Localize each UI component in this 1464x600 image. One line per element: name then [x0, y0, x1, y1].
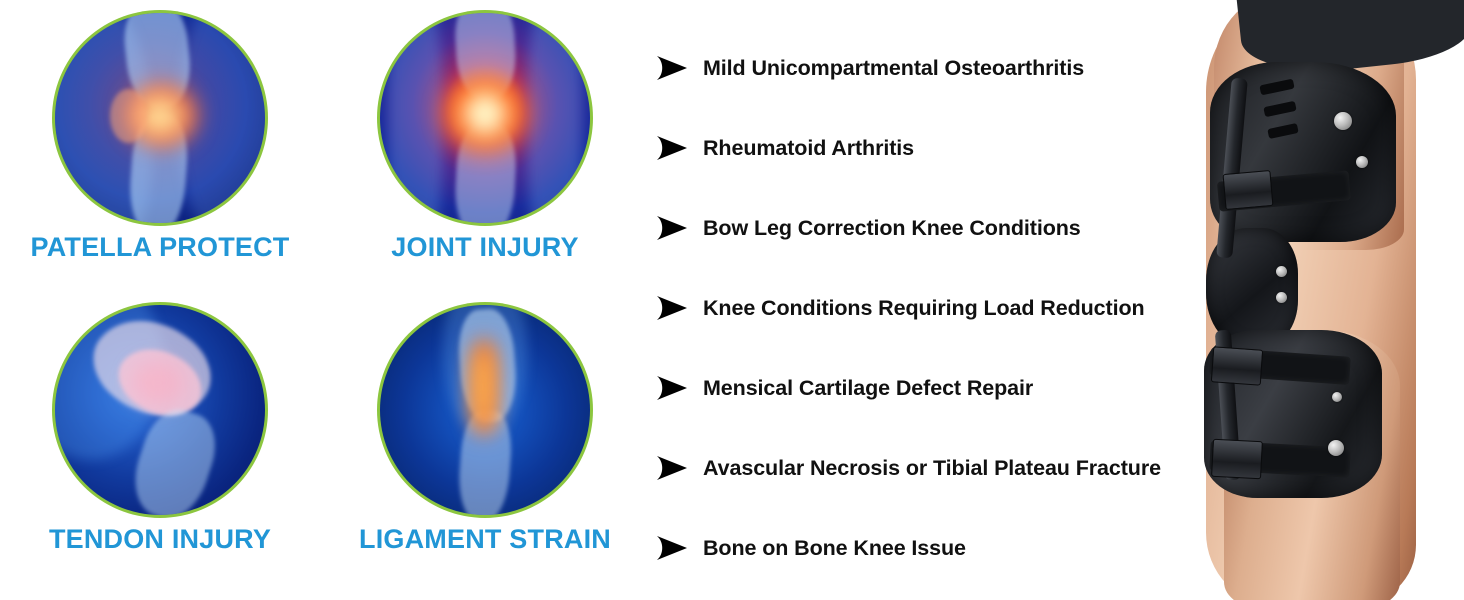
brace-rivet: [1276, 266, 1287, 277]
arrow-right-icon: [655, 215, 689, 241]
ligament-strain-scan-icon: [380, 305, 590, 515]
arrow-right-icon: [655, 135, 689, 161]
brace-buckle-lower: [1211, 439, 1263, 480]
icon-ring: [377, 302, 593, 518]
brace-rivet: [1334, 112, 1352, 130]
icon-ring: [377, 10, 593, 226]
condition-icon-grid: PATELLA PROTECT JOINT INJURY: [10, 8, 620, 592]
brace-rivet: [1328, 440, 1344, 456]
knee-patella-scan-icon: [55, 13, 265, 223]
leg-wearing-hinged-knee-brace-photo: [1180, 0, 1464, 600]
arrow-right-icon: [655, 295, 689, 321]
list-item-label: Bow Leg Correction Knee Conditions: [703, 216, 1081, 241]
knee-joint-injury-scan-icon: [380, 13, 590, 223]
arrow-right-icon: [655, 375, 689, 401]
icon-ring: [52, 10, 268, 226]
tendon-injury-scan-icon: [55, 305, 265, 515]
brace-buckle-mid: [1211, 346, 1263, 385]
indications-list: Mild Unicompartmental Osteoarthritis Rhe…: [655, 28, 1195, 588]
icon-ring: [52, 302, 268, 518]
list-item: Bow Leg Correction Knee Conditions: [655, 188, 1195, 268]
list-item: Mensical Cartilage Defect Repair: [655, 348, 1195, 428]
list-item-label: Mild Unicompartmental Osteoarthritis: [703, 56, 1084, 81]
brace-rivet: [1276, 292, 1287, 303]
icon-cell-joint-injury: JOINT INJURY: [335, 8, 635, 300]
icon-cell-patella-protect: PATELLA PROTECT: [10, 8, 310, 300]
brace-rivet: [1356, 156, 1368, 168]
list-item-label: Rheumatoid Arthritis: [703, 136, 914, 161]
brace-buckle-upper: [1223, 170, 1274, 210]
list-item: Avascular Necrosis or Tibial Plateau Fra…: [655, 428, 1195, 508]
icon-cell-ligament-strain: LIGAMENT STRAIN: [335, 300, 635, 592]
icon-caption: JOINT INJURY: [335, 232, 635, 263]
icon-caption: PATELLA PROTECT: [10, 232, 310, 263]
list-item-label: Bone on Bone Knee Issue: [703, 536, 966, 561]
list-item-label: Knee Conditions Requiring Load Reduction: [703, 296, 1145, 321]
promo-banner: PATELLA PROTECT JOINT INJURY: [0, 0, 1464, 600]
icon-cell-tendon-injury: TENDON INJURY: [10, 300, 310, 592]
icon-caption: LIGAMENT STRAIN: [335, 524, 635, 555]
brace-rivet: [1332, 392, 1342, 402]
list-item: Knee Conditions Requiring Load Reduction: [655, 268, 1195, 348]
list-item-label: Avascular Necrosis or Tibial Plateau Fra…: [703, 456, 1161, 481]
arrow-right-icon: [655, 535, 689, 561]
arrow-right-icon: [655, 455, 689, 481]
list-item: Mild Unicompartmental Osteoarthritis: [655, 28, 1195, 108]
icon-caption: TENDON INJURY: [10, 524, 310, 555]
list-item: Bone on Bone Knee Issue: [655, 508, 1195, 588]
arrow-right-icon: [655, 55, 689, 81]
list-item-label: Mensical Cartilage Defect Repair: [703, 376, 1033, 401]
list-item: Rheumatoid Arthritis: [655, 108, 1195, 188]
